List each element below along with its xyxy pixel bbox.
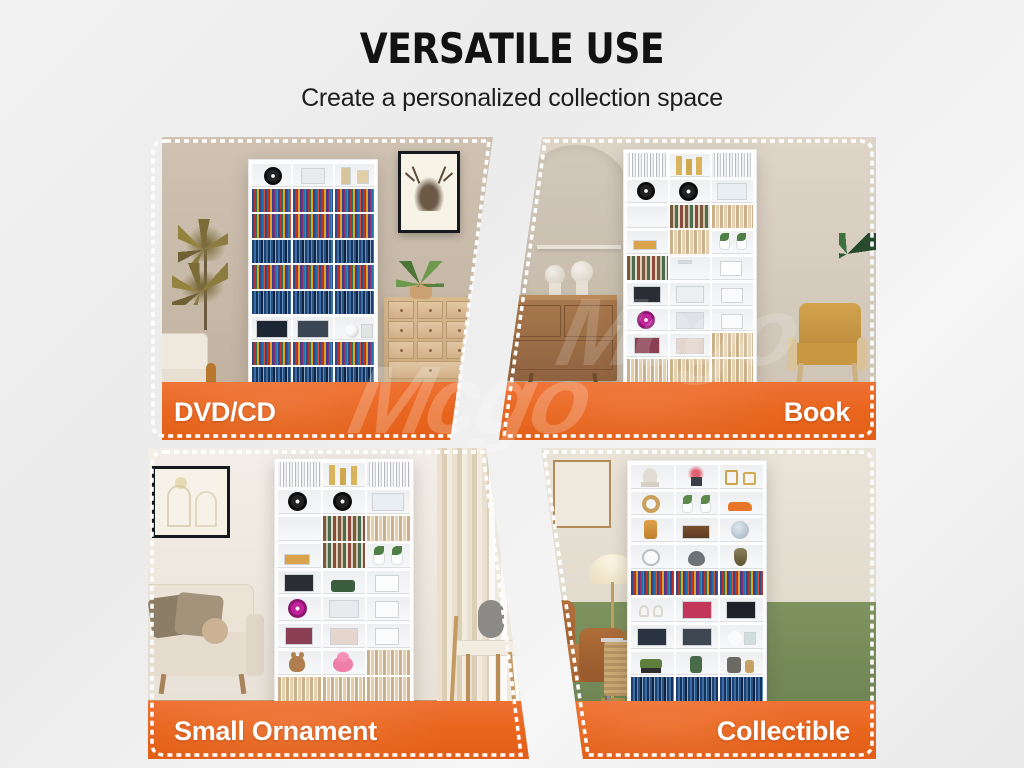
bust-cell bbox=[631, 464, 674, 489]
header: VERSATILE USE Create a personalized coll… bbox=[0, 0, 1024, 128]
alarm-clock-cell bbox=[631, 544, 674, 569]
banner-small-ornament: Small Ornament bbox=[148, 701, 529, 759]
wall-frame bbox=[553, 460, 611, 528]
deer-wall-art bbox=[398, 151, 460, 233]
panel-grid: DVD/CD bbox=[0, 128, 1024, 768]
panel-label-book: Book bbox=[784, 397, 850, 428]
panel-label-small-ornament: Small Ornament bbox=[174, 716, 377, 747]
wall-plant bbox=[839, 233, 876, 287]
wooden-sideboard bbox=[507, 295, 617, 381]
sphere-sculptures bbox=[543, 259, 599, 297]
media-shelf bbox=[623, 149, 757, 389]
panel-label-collectible: Collectible bbox=[717, 716, 850, 747]
media-shelf bbox=[274, 458, 414, 706]
media-shelf bbox=[627, 460, 767, 706]
banner-dvd-cd: DVD/CD bbox=[148, 382, 493, 440]
page-subtitle: Create a personalized collection space bbox=[301, 84, 723, 113]
wooden-dresser bbox=[384, 297, 476, 387]
potted-plant bbox=[396, 261, 444, 301]
panel-book[interactable]: Book bbox=[495, 137, 876, 440]
banner-collectible: Collectible bbox=[531, 701, 876, 759]
potted-palm bbox=[176, 217, 238, 347]
panel-small-ornament[interactable]: Small Ornament bbox=[148, 448, 529, 759]
beige-sofa bbox=[148, 570, 266, 708]
wooden-chair bbox=[448, 600, 520, 704]
page-title: VERSATILE USE bbox=[360, 28, 664, 70]
banner-book: Book bbox=[495, 382, 876, 440]
media-shelf bbox=[248, 159, 378, 395]
panel-dvd-cd[interactable]: DVD/CD bbox=[148, 137, 493, 440]
abstract-wall-art bbox=[152, 466, 230, 538]
teddy-bear-cell bbox=[323, 650, 366, 675]
panel-collectible[interactable]: Collectible bbox=[531, 448, 876, 759]
panel-label-dvd-cd: DVD/CD bbox=[174, 397, 276, 428]
figurine-cell bbox=[278, 650, 321, 675]
